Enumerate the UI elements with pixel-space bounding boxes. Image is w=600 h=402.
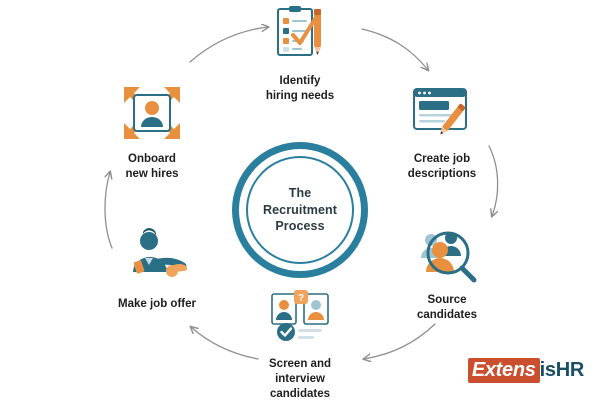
node-identify-hiring-needs[interactable]: Identify hiring needs [235, 5, 365, 104]
center-circle: The Recruitment Process [232, 142, 368, 278]
node-label: Identify hiring needs [235, 74, 365, 104]
center-title: The Recruitment Process [263, 185, 337, 236]
svg-text:?: ? [298, 293, 304, 304]
node-screen-interview-candidates[interactable]: ? Screen and interview candidates [235, 288, 365, 402]
node-create-job-descriptions[interactable]: Create job descriptions [377, 83, 507, 182]
person-expand-arrows-icon [120, 83, 184, 145]
person-handshake-offer-icon [125, 228, 189, 290]
center-inner-ring: The Recruitment Process [246, 156, 354, 264]
browser-window-pencil-icon [410, 83, 474, 145]
node-make-job-offer[interactable]: Make job offer [92, 228, 222, 312]
two-people-question-check-icon: ? [268, 288, 332, 350]
clipboard-checklist-pencil-icon [268, 5, 332, 67]
node-onboard-new-hires[interactable]: Onboard new hires [87, 83, 217, 182]
logo-hr: HR [556, 359, 584, 381]
node-label: Create job descriptions [377, 152, 507, 182]
node-label: Source candidates [382, 293, 512, 323]
brand-logo: ExtensisHR [468, 359, 584, 382]
logo-is: is [540, 359, 556, 381]
logo-extens: Extens [468, 358, 540, 383]
magnifier-person-icon [415, 224, 479, 286]
node-source-candidates[interactable]: Source candidates [382, 224, 512, 323]
node-label: Onboard new hires [87, 152, 217, 182]
node-label: Make job offer [92, 297, 222, 312]
node-label: Screen and interview candidates [235, 357, 365, 402]
diagram-canvas: The Recruitment Process [0, 0, 600, 400]
